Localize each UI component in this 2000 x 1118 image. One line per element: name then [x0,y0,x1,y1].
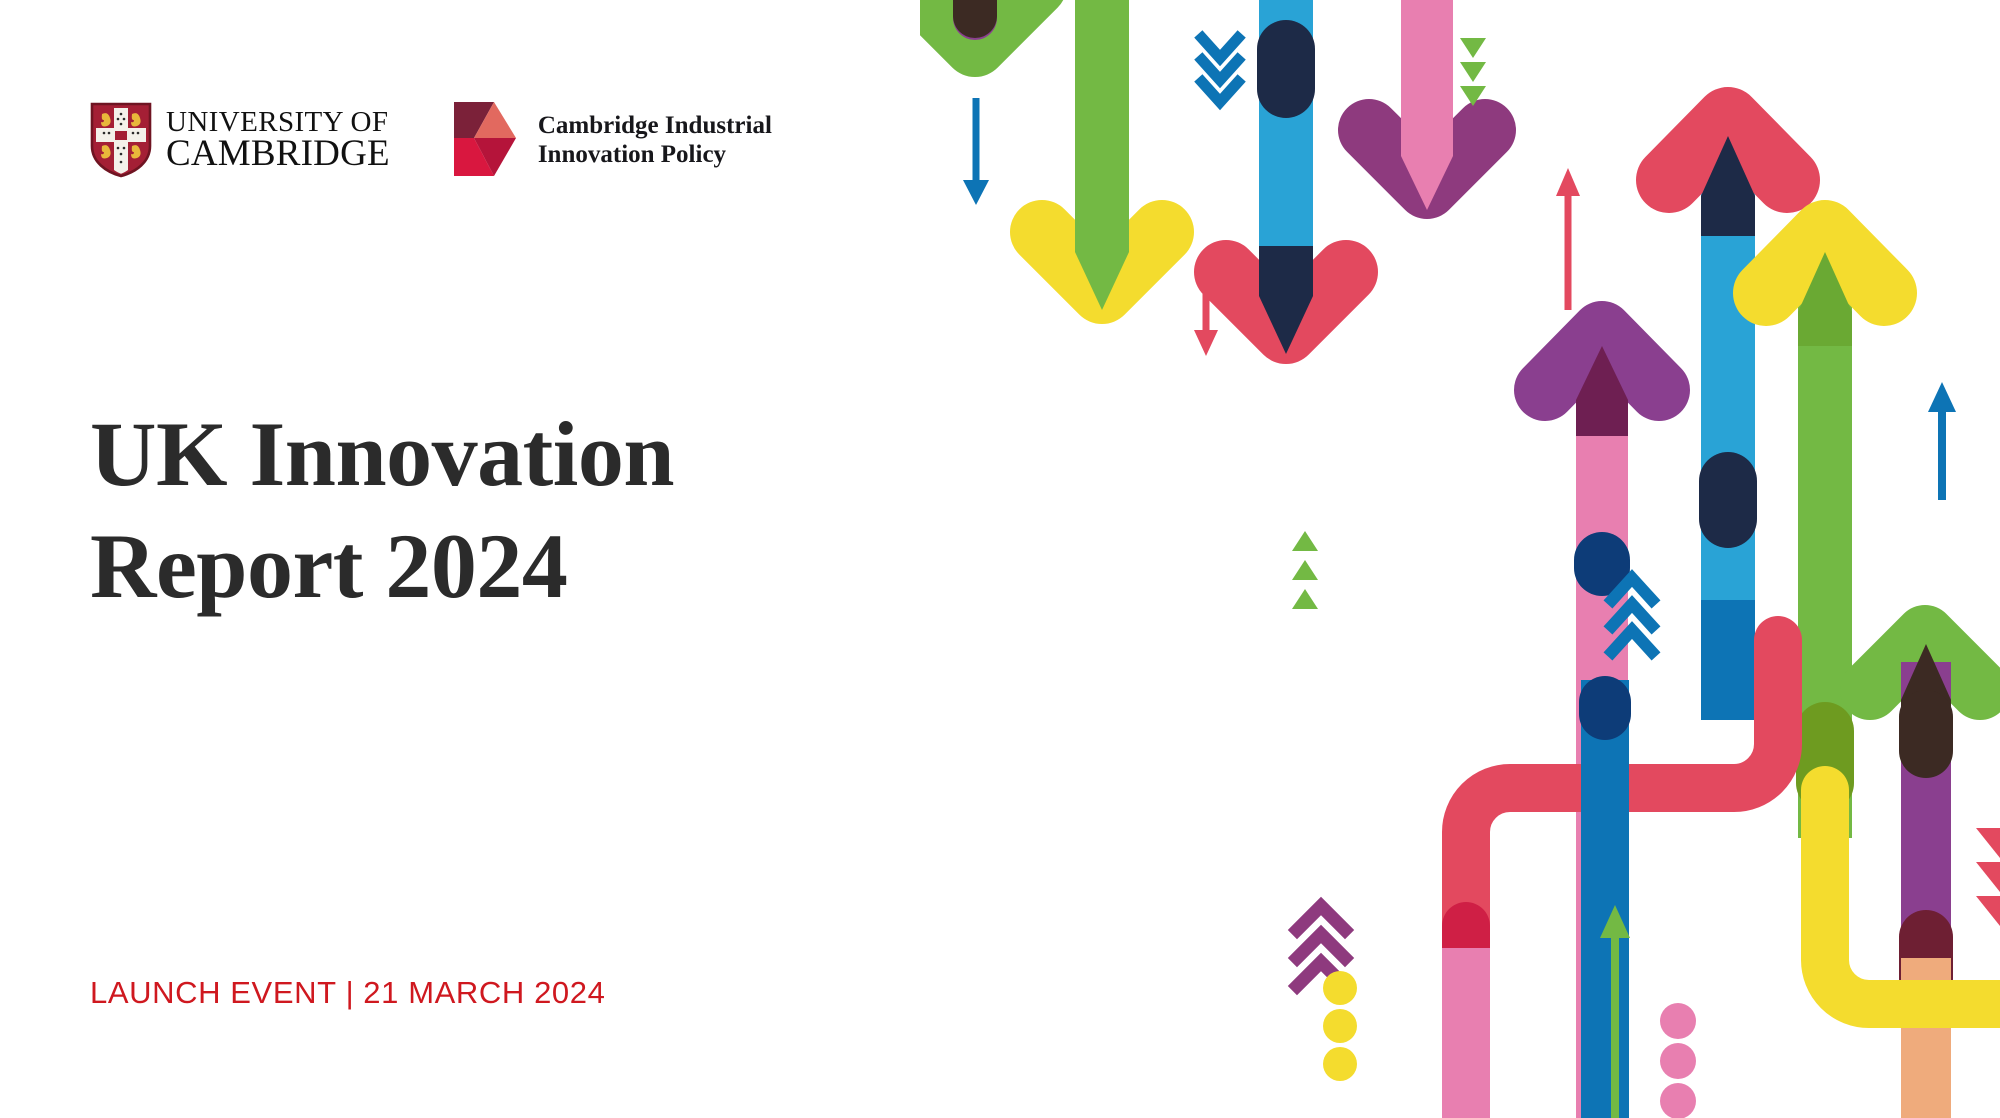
pink-vertical-line [1442,948,1490,1118]
blue-triple-chevron-down [1202,38,1238,102]
university-wordmark-line1: UNIVERSITY OF [166,108,390,136]
pink-dot-stack [1660,1003,1696,1118]
page-title-line2: Report 2024 [90,510,674,622]
ciip-arrow-mark-icon [450,98,522,182]
university-wordmark: UNIVERSITY OF CAMBRIDGE [166,108,390,173]
red-small-up-arrow [1556,168,1580,310]
page-title-line1: UK Innovation [90,398,674,510]
green-yellow-down-arrow [1042,200,1162,310]
university-wordmark-line2: CAMBRIDGE [166,136,390,172]
red-triangle-stack-edge [1976,828,2000,926]
arrows-illustration: .mul { mix-blend-mode: multiply; } [920,0,2000,1118]
green-triple-triangle-down [1460,38,1486,106]
university-of-cambridge-logo: UNIVERSITY OF CAMBRIDGE [90,102,390,178]
cyan-red-down-arrow [1226,0,1346,354]
blue-triple-chevron-up [1612,578,1652,652]
page-title: UK Innovation Report 2024 [90,398,674,622]
logo-row: UNIVERSITY OF CAMBRIDGE Cambridge Indust… [90,100,772,180]
blue-small-down-arrow [963,98,989,205]
green-triple-triangle-up [1292,531,1318,609]
ciip-logo: Cambridge Industrial Innovation Policy [450,98,772,182]
kicker-date: 21 MARCH 2024 [363,975,605,1010]
yellow-dot-stack [1323,971,1357,1081]
pink-purple-down-arrow [1369,0,1485,210]
cambridge-crest-icon [90,102,152,178]
kicker-event-label: LAUNCH EVENT [90,975,337,1010]
green-purple-up-arrow [1870,635,1980,1118]
launch-event-kicker: LAUNCH EVENT|21 MARCH 2024 [90,975,605,1011]
ciip-wordmark: Cambridge Industrial Innovation Policy [538,111,772,170]
slide-root: UNIVERSITY OF CAMBRIDGE Cambridge Indust… [0,0,2000,1118]
blue-small-up-arrow [1928,382,1956,500]
abstract-arrows-graphic: .mul { mix-blend-mode: multiply; } [920,0,2000,1118]
kicker-separator: | [337,975,364,1011]
ciip-wordmark-line2: Innovation Policy [538,140,772,170]
blue-vertical-line [1579,676,1631,1118]
ciip-wordmark-line1: Cambridge Industrial [538,111,772,141]
